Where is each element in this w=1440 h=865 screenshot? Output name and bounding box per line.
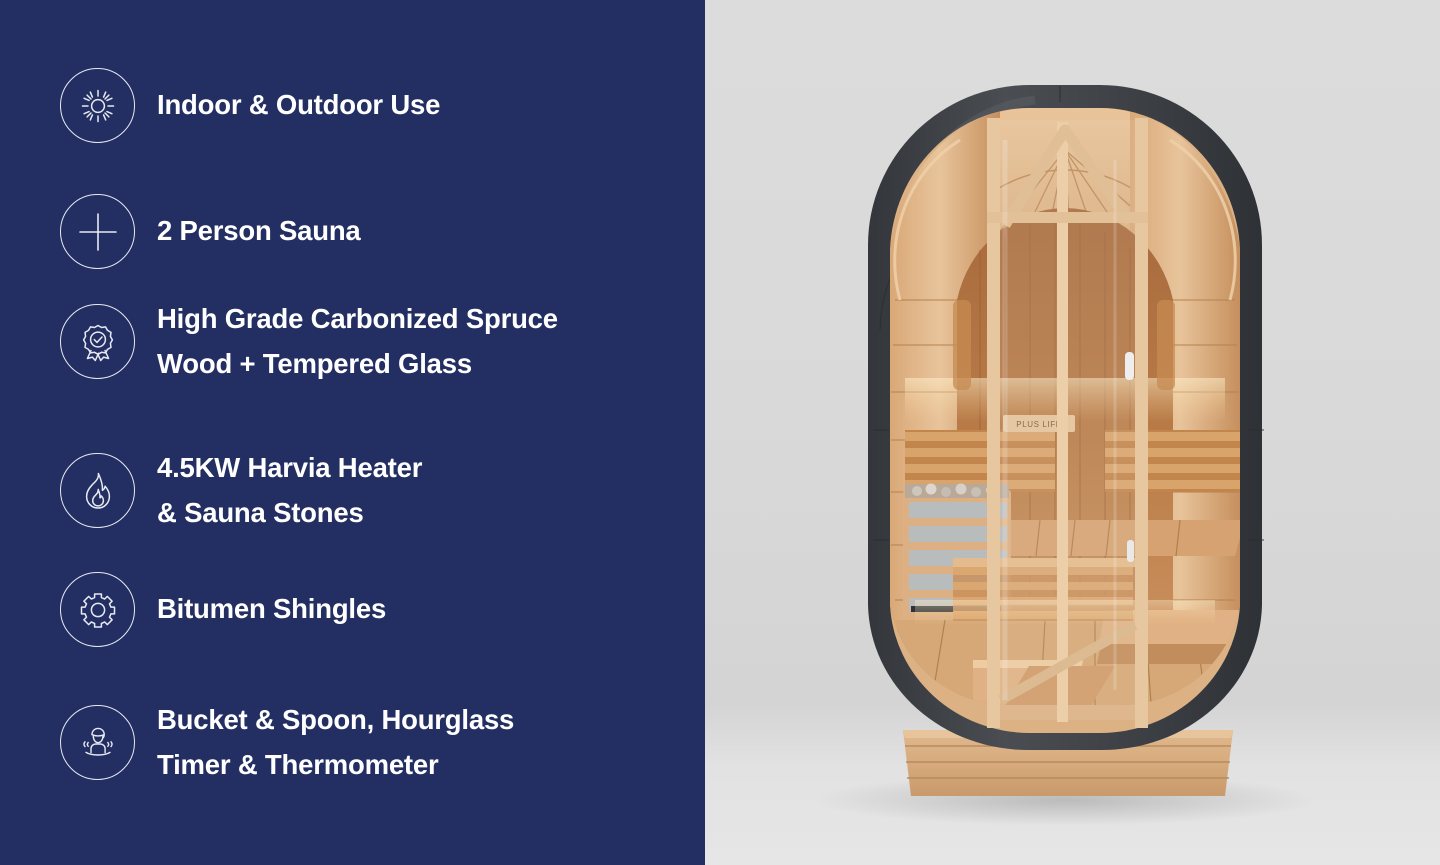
flame-icon	[60, 453, 135, 528]
sauna-glass-door[interactable]	[987, 118, 1148, 728]
feature-label: 4.5KW Harvia Heater & Sauna Stones	[157, 446, 422, 535]
feature-image-page: Indoor & Outdoor Use 2 Person Sauna	[0, 0, 1440, 865]
feature-item-two-person: 2 Person Sauna	[60, 194, 361, 269]
sauna-product-photo: PLUS LIFE	[705, 0, 1440, 865]
feature-label: Bucket & Spoon, Hourglass Timer & Thermo…	[157, 698, 514, 787]
feature-item-shingles: Bitumen Shingles	[60, 572, 386, 647]
feature-panel: Indoor & Outdoor Use 2 Person Sauna	[0, 0, 705, 865]
feature-item-accessories: Bucket & Spoon, Hourglass Timer & Thermo…	[60, 698, 514, 787]
sauna-person-icon	[60, 705, 135, 780]
feature-list: Indoor & Outdoor Use 2 Person Sauna	[0, 0, 705, 865]
door-handle[interactable]	[1125, 352, 1134, 380]
feature-item-indoor-outdoor: Indoor & Outdoor Use	[60, 68, 440, 143]
feature-item-spruce-wood: High Grade Carbonized Spruce Wood + Temp…	[60, 297, 558, 386]
plus-icon	[60, 194, 135, 269]
gear-icon	[60, 572, 135, 647]
corner-light-right	[1157, 300, 1175, 390]
feature-item-heater: 4.5KW Harvia Heater & Sauna Stones	[60, 446, 422, 535]
award-badge-icon	[60, 304, 135, 379]
door-header-rail	[987, 212, 1148, 223]
feature-label: High Grade Carbonized Spruce Wood + Temp…	[157, 297, 558, 386]
sauna-photo-panel: PLUS LIFE	[705, 0, 1440, 865]
door-latch[interactable]	[1127, 540, 1134, 562]
door-frame-left	[987, 118, 1000, 728]
sun-icon	[60, 68, 135, 143]
feature-label: 2 Person Sauna	[157, 209, 361, 254]
feature-label: Bitumen Shingles	[157, 587, 386, 632]
corner-light-left	[953, 300, 971, 390]
feature-label: Indoor & Outdoor Use	[157, 83, 440, 128]
door-frame-right	[1135, 118, 1148, 728]
